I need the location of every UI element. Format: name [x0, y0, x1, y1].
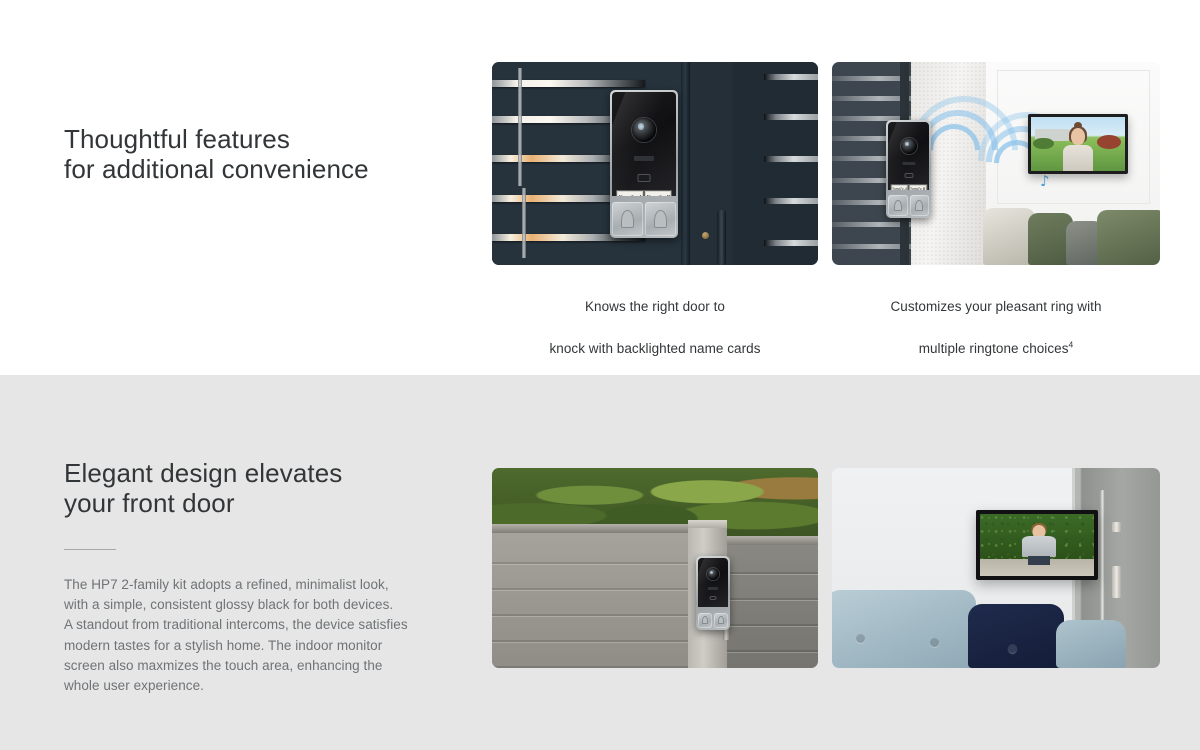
fence-seam	[492, 614, 688, 616]
camera-lens-icon	[901, 138, 917, 154]
fence-panel-left	[492, 524, 688, 668]
section-title-elegant-design: Elegant design elevates your front door	[64, 458, 408, 518]
name-card: Family A	[617, 191, 643, 196]
bell-icon	[654, 210, 666, 228]
fence-seam	[727, 650, 818, 652]
indoor-scene	[832, 468, 1160, 668]
visitor-shirt	[1022, 536, 1056, 557]
bell-icon	[702, 616, 708, 624]
name-card: Family B	[910, 185, 927, 190]
brand-logo	[902, 162, 915, 165]
image-front-gate	[492, 468, 818, 668]
cushion-tuft	[930, 638, 939, 647]
door-station	[696, 556, 730, 630]
fence-seam	[492, 588, 688, 590]
brand-logo	[634, 156, 654, 161]
bush	[1097, 135, 1121, 149]
gate-handle	[717, 210, 726, 265]
cushion-tuft	[856, 634, 865, 643]
fence-seam	[727, 598, 818, 600]
call-buttons	[696, 611, 730, 630]
figure-front-gate	[492, 468, 818, 668]
call-button-family-b	[645, 202, 676, 236]
gate-post	[681, 62, 690, 265]
door-keyhole	[1112, 522, 1121, 532]
caption-line-1: Knows the right door to	[585, 299, 725, 314]
gate-slat	[764, 74, 818, 80]
pillar-cap	[688, 520, 727, 528]
door-station: Family A Family B	[610, 90, 678, 238]
cushion-light-blue	[832, 590, 976, 668]
page-title: Thoughtful features for additional conve…	[64, 124, 369, 184]
name-card-holder: Family A Family B	[616, 190, 672, 196]
monitor-screen	[1031, 117, 1125, 171]
fence-panel-right	[727, 536, 818, 668]
cushion-green	[1097, 210, 1160, 265]
wall-monitor	[976, 510, 1098, 580]
station-glass-face	[698, 558, 728, 607]
fence-cap	[492, 524, 688, 533]
sofa	[986, 208, 1160, 265]
card-reader-icon	[638, 174, 651, 182]
visitor-body	[1063, 145, 1093, 171]
dark-gate-scene: Family A Family B	[492, 62, 818, 265]
station-glass-face: Family A Family B	[888, 122, 929, 190]
ringtone-scene: ♪ Family A Family	[832, 62, 1160, 265]
gate-slat	[492, 80, 645, 87]
gate-slat	[764, 240, 818, 246]
name-card-holder: Family A Family B	[890, 184, 927, 190]
call-button-family-b	[714, 613, 728, 628]
front-gate-scene	[492, 468, 818, 668]
section-thoughtful-features: Thoughtful features for additional conve…	[0, 0, 1200, 375]
image-ringtones: ♪ Family A Family	[832, 62, 1160, 265]
fence-seam	[492, 562, 688, 564]
card-reader-icon	[904, 173, 913, 178]
monitor-screen	[980, 514, 1094, 576]
figure-ringtones: ♪ Family A Family	[832, 62, 1160, 265]
bush	[1033, 138, 1054, 150]
cushion-tuft	[1008, 644, 1017, 653]
caption-line-2: multiple ringtone choices	[919, 341, 1069, 356]
gate-right-panel	[733, 62, 818, 265]
divider	[64, 549, 116, 550]
figure-indoor-monitor	[832, 468, 1160, 668]
fence-seam	[492, 640, 688, 642]
gate-slat	[764, 198, 818, 204]
name-card: Family A	[891, 185, 908, 190]
gate-slat	[764, 114, 818, 120]
call-button-family-a	[698, 613, 712, 628]
gate-vertical-strip	[518, 68, 522, 186]
cushion-light-blue	[1056, 620, 1126, 668]
bell-icon	[718, 616, 724, 624]
call-buttons	[610, 200, 678, 238]
caption-line-2: knock with backlighted name cards	[549, 341, 760, 356]
cushion-navy	[968, 604, 1064, 668]
image-indoor-monitor	[832, 468, 1160, 668]
door-lock-plate	[1112, 566, 1121, 598]
visitor-face	[1071, 128, 1085, 145]
bottom-text-column: Elegant design elevates your front door …	[64, 458, 408, 696]
caption-footnote-marker: 4	[1069, 340, 1074, 350]
station-glass-face: Family A Family B	[612, 92, 676, 196]
fence-seam	[492, 666, 688, 668]
fence-seam	[727, 624, 818, 626]
gate-lock-knob	[702, 232, 709, 239]
figure-caption-ringtones: Customizes your pleasant ring with multi…	[832, 275, 1160, 359]
door-station: Family A Family B	[886, 120, 931, 218]
camera-lens-icon	[707, 568, 719, 580]
fence-seam	[727, 572, 818, 574]
section-elegant-design: Elegant design elevates your front door …	[0, 375, 1200, 750]
figure-caption-name-cards: Knows the right door to knock with backl…	[492, 275, 818, 359]
figure-name-cards: Family A Family B	[492, 62, 818, 265]
bell-icon	[621, 210, 633, 228]
visitor-trousers	[1028, 556, 1050, 565]
section-body-text: The HP7 2-family kit adopts a refined, m…	[64, 575, 408, 696]
music-note-icon: ♪	[1040, 174, 1050, 189]
top-text-column: Thoughtful features for additional conve…	[64, 124, 369, 184]
caption-line-1: Customizes your pleasant ring with	[890, 299, 1101, 314]
call-button-family-a	[888, 195, 908, 216]
card-reader-icon	[709, 596, 716, 600]
indoor-monitor	[1028, 114, 1128, 174]
gate-slat	[764, 156, 818, 162]
gate-vertical-strip	[522, 188, 526, 258]
bell-icon	[894, 200, 902, 211]
product-feature-page: Thoughtful features for additional conve…	[0, 0, 1200, 750]
call-buttons	[886, 193, 931, 218]
call-button-family-b	[910, 195, 930, 216]
camera-lens-icon	[632, 118, 656, 142]
brand-logo	[708, 587, 718, 590]
bell-icon	[915, 200, 923, 211]
image-name-cards: Family A Family B	[492, 62, 818, 265]
call-button-family-a	[612, 202, 643, 236]
fence-cap	[727, 536, 818, 545]
name-card: Family B	[645, 191, 671, 196]
